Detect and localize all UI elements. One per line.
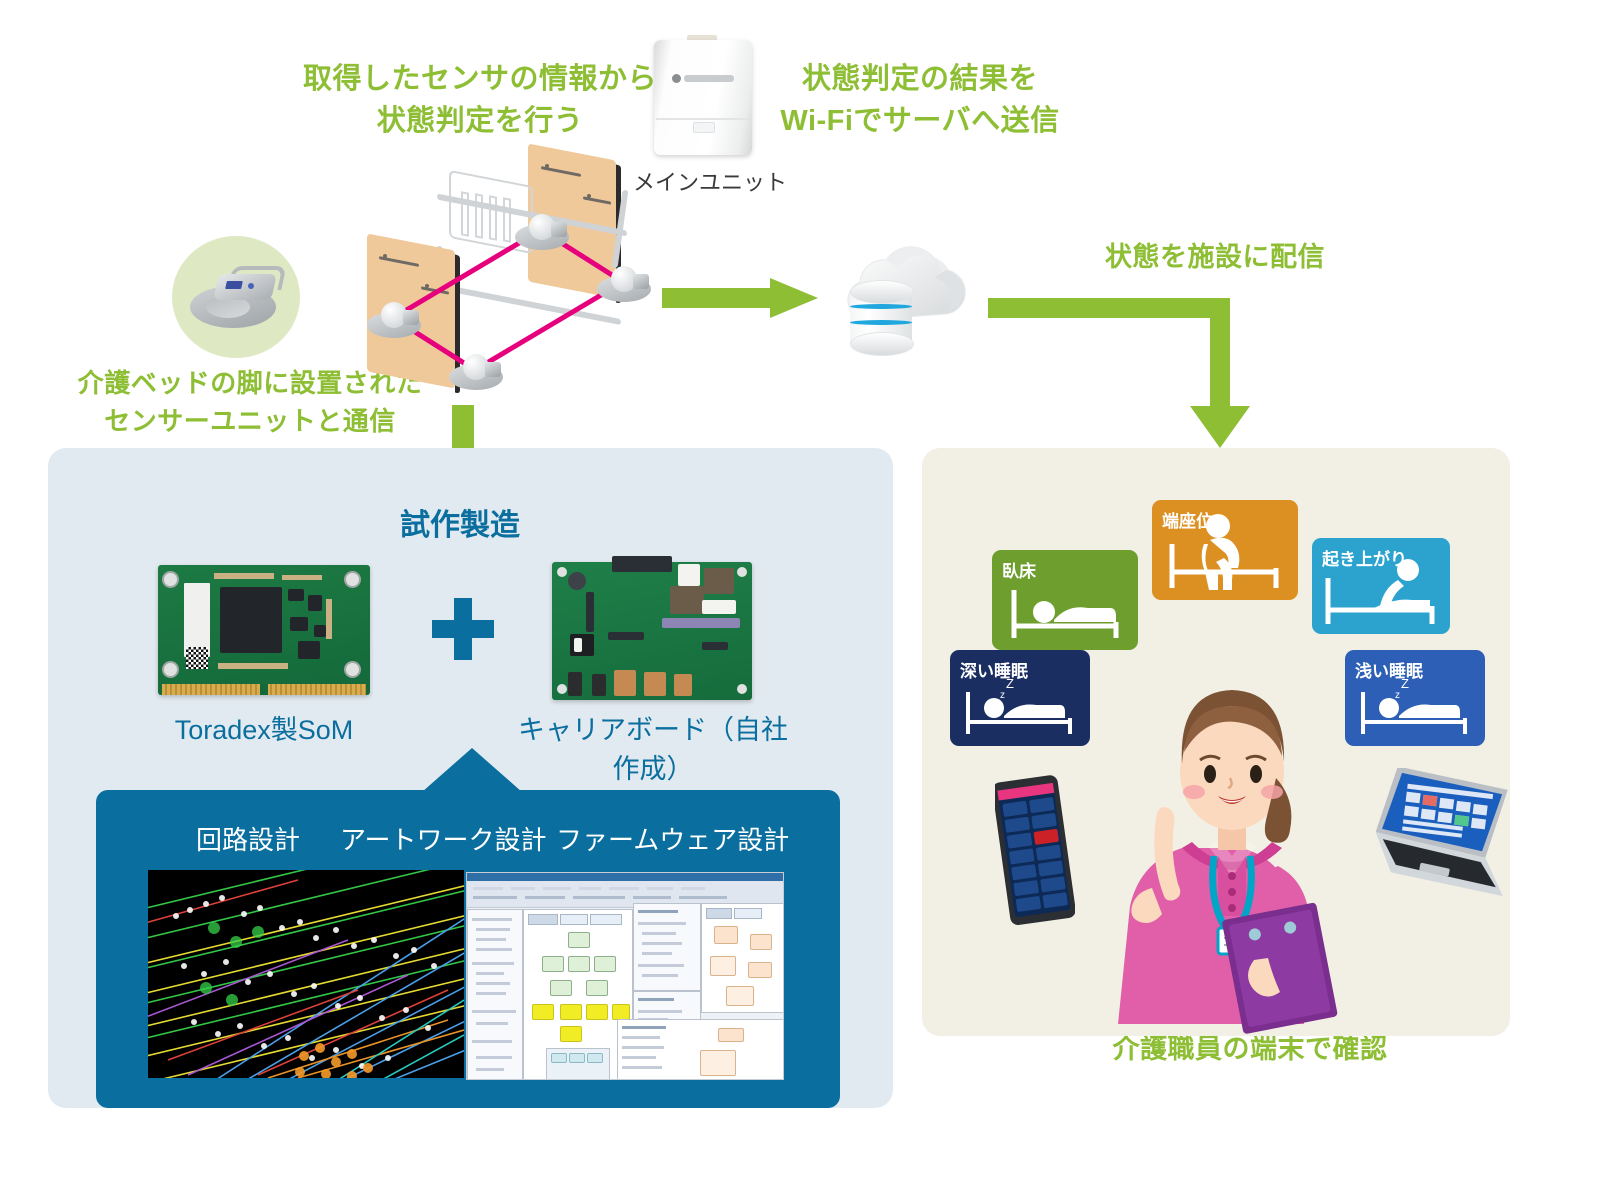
main-unit-body	[654, 40, 752, 155]
svg-text:Z: Z	[1006, 676, 1014, 691]
design-step-artwork: アートワーク設計	[340, 820, 546, 857]
bed-caster-sensor-3	[597, 264, 653, 304]
arrow-bed-to-cloud	[662, 278, 822, 316]
main-unit-device	[654, 40, 752, 155]
caption-wifi-send: 状態判定の結果を Wi-Fiでサーバへ送信	[760, 58, 1080, 142]
cloud-server	[830, 240, 980, 365]
care-bed-illustration	[345, 150, 675, 420]
status-card-getting-up: 起き上がり	[1312, 538, 1450, 634]
care-staff-illustration	[1090, 660, 1380, 1040]
status-card-deep-sleep: 深い睡眠 Z z	[950, 650, 1090, 746]
design-step-firmware: ファームウェア設計	[556, 820, 789, 857]
main-unit-notch	[693, 122, 715, 133]
svg-text:Z: Z	[1401, 676, 1409, 691]
smartphone-device	[995, 772, 1075, 927]
status-card-lying: 臥床	[992, 550, 1138, 650]
bed-caster-sensor-2	[515, 212, 571, 252]
som-board-label: Toradex製SoM	[144, 708, 384, 747]
main-unit-logo	[672, 71, 735, 86]
arrow-cloud-to-facility	[988, 298, 1248, 453]
caption-sensor-judgement: 取得したセンサの情報から 状態判定を行う	[300, 58, 660, 142]
prototype-panel-title: 試作製造	[330, 500, 590, 544]
pcb-artwork-screenshot	[148, 870, 464, 1078]
sensor-unit-icon	[190, 264, 286, 330]
som-board-image	[158, 565, 370, 695]
svg-text:z: z	[1395, 690, 1400, 701]
bed-caster-sensor-1	[367, 300, 423, 340]
svg-text:z: z	[1000, 690, 1005, 701]
plus-icon	[432, 598, 494, 660]
bed-caster-sensor-4	[449, 352, 505, 392]
main-unit-seam	[656, 118, 750, 120]
laptop-device	[1360, 768, 1520, 898]
design-step-circuit: 回路設計	[196, 820, 300, 857]
sensor-unit-callout	[172, 236, 312, 364]
carrier-board-image	[552, 562, 752, 700]
caption-deliver-to-facility: 状態を施設に配信	[1055, 238, 1375, 277]
database-cylinder	[850, 280, 912, 352]
carrier-board-label: キャリアボード（自社作成）	[508, 708, 798, 786]
status-card-sitting-edge: 端座位	[1152, 500, 1298, 600]
firmware-design-software-screenshot	[466, 872, 784, 1080]
